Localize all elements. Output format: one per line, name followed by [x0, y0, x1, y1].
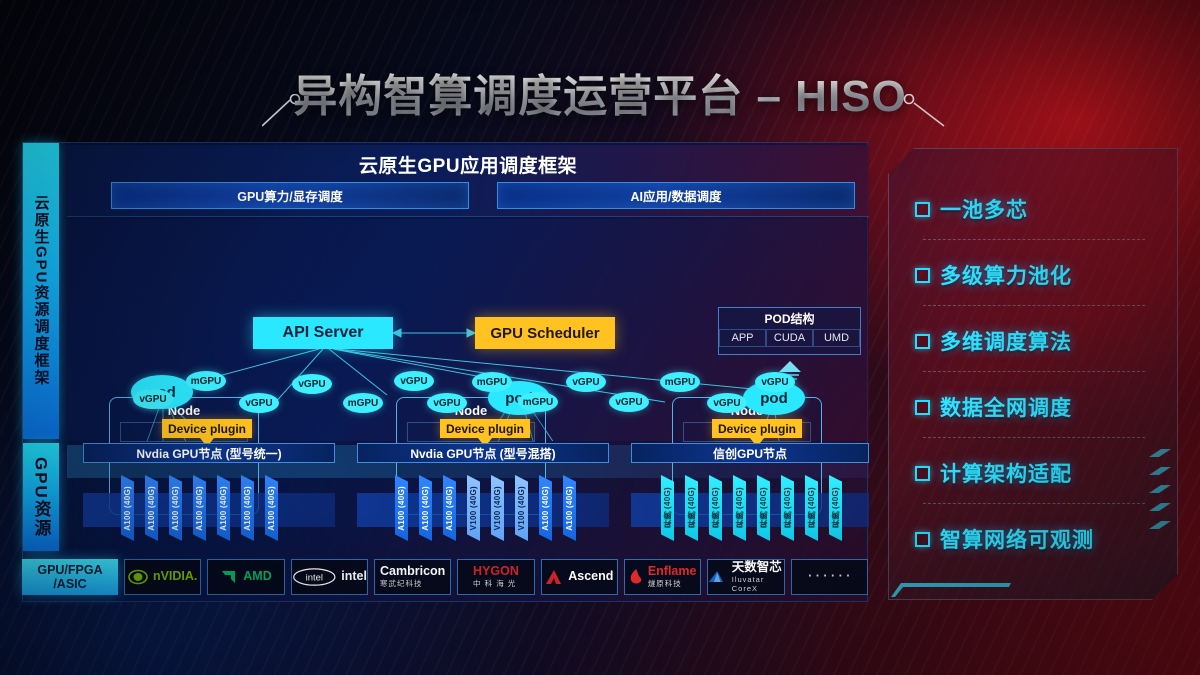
gpu-card-label: A100 (40G) [147, 486, 156, 531]
feature-item-2[interactable]: 多级算力池化 [915, 249, 1159, 301]
gpu-card[interactable]: A100 (40G) [563, 475, 576, 541]
gpu-card-rack: A100 (40G)A100 (40G)A100 (40G)V100 (40G)… [357, 471, 609, 543]
feature-divider [923, 371, 1145, 372]
gpu-card[interactable]: 昇腾 (40G) [733, 475, 746, 541]
gpu-card[interactable]: 昇腾 (40G) [757, 475, 770, 541]
pill-gpu-compute-scheduling[interactable]: GPU算力/显存调度 [111, 182, 469, 209]
gpu-card-label: 昇腾 (40G) [806, 487, 817, 528]
gpu-card-label: V100 (40G) [493, 486, 502, 530]
gpu-card[interactable]: A100 (40G) [395, 475, 408, 541]
vendor-name: Cambricon [380, 565, 445, 578]
cambricon-logo[interactable]: Cambricon寒武纪科技 [374, 559, 451, 595]
svg-text:intel: intel [305, 571, 322, 582]
vendor-label-line2: /ASIC [53, 577, 86, 591]
cloud-native-gpu-framework-panel: 云原生GPU资源调度框架 GPU资源 云原生GPU应用调度框架 GPU算力/显存… [22, 142, 868, 602]
feature-item-4[interactable]: 数据全网调度 [915, 381, 1159, 433]
pod-cell-umd: UMD [813, 329, 860, 347]
vendor-subtitle: 燧原科技 [648, 578, 697, 589]
gpu-card-label: A100 (40G) [267, 486, 276, 531]
sidebar-tab-framework: 云原生GPU资源调度框架 [23, 143, 59, 439]
feature-item-5[interactable]: 计算架构适配 [915, 447, 1159, 499]
gpu-node-group-2: Nvdia GPU节点 (型号混搭)A100 (40G)A100 (40G)A1… [357, 443, 609, 551]
iluvatar-logo[interactable]: 天数智芯Iluvatar CoreX [707, 559, 784, 595]
feature-item-1[interactable]: 一池多芯 [915, 183, 1159, 235]
feature-label: 计算架构适配 [940, 458, 1072, 488]
enflame-flame-icon [629, 569, 643, 585]
gpu-card[interactable]: V100 (40G) [491, 475, 504, 541]
vgpu-ellipse[interactable]: vGPU [239, 393, 279, 413]
feature-divider [923, 305, 1145, 306]
gpu-card[interactable]: 昇腾 (40G) [829, 475, 842, 541]
title-right-decoration [900, 94, 950, 128]
vgpu-ellipse[interactable]: vGPU [755, 372, 795, 392]
checkbox-icon [915, 334, 930, 349]
pod-structure-row: APP CUDA UMD [719, 329, 860, 347]
gpu-card-label: 昇腾 (40G) [782, 487, 793, 528]
vendor-text-wrap: 天数智芯Iluvatar CoreX [732, 561, 784, 592]
device-plugin-3[interactable]: Device plugin [712, 419, 802, 438]
gpu-card-label: A100 (40G) [421, 486, 430, 531]
checkbox-icon [915, 400, 930, 415]
panel-body: 云原生GPU应用调度框架 GPU算力/显存调度 AI应用/数据调度 [67, 143, 867, 601]
vendor-name: · · · · · · [808, 570, 850, 583]
vgpu-ellipse[interactable]: vGPU [427, 393, 467, 413]
vendor-text-wrap: nVIDIA. [153, 570, 197, 583]
vgpu-ellipse[interactable]: vGPU [566, 372, 606, 392]
rack-slab [83, 493, 335, 527]
feature-divider [923, 437, 1145, 438]
device-plugin-2[interactable]: Device plugin [440, 419, 530, 438]
ascend-logo[interactable]: Ascend [541, 559, 618, 595]
gpu-card-label: A100 (40G) [219, 486, 228, 531]
checkbox-icon [915, 532, 930, 547]
vendor-subtitle: 寒武纪科技 [380, 578, 445, 589]
gpu-card[interactable]: A100 (40G) [145, 475, 158, 541]
gpu-scheduler-box[interactable]: GPU Scheduler [475, 317, 615, 349]
gpu-card[interactable]: A100 (40G) [241, 475, 254, 541]
gpu-card[interactable]: A100 (40G) [169, 475, 182, 541]
vgpu-ellipse[interactable]: vGPU [609, 392, 649, 412]
vendor-name: 天数智芯 [732, 561, 784, 574]
gpu-card-label: A100 (40G) [397, 486, 406, 531]
gpu-card-label: A100 (40G) [171, 486, 180, 531]
gpu-card-label: V100 (40G) [517, 486, 526, 530]
title-area: 异构智算调度运营平台 – HISO [0, 60, 1200, 130]
mgpu-ellipse[interactable]: mGPU [518, 392, 558, 412]
mgpu-ellipse[interactable]: mGPU [343, 393, 383, 413]
amd-logo[interactable]: AMD [207, 559, 284, 595]
vendor-text-wrap: Cambricon寒武纪科技 [380, 565, 445, 589]
sidebar-tab-gpu-resource: GPU资源 [23, 443, 59, 551]
mgpu-ellipse[interactable]: mGPU [660, 372, 700, 392]
vgpu-ellipse[interactable]: vGPU [707, 393, 747, 413]
mgpu-ellipse[interactable]: mGPU [472, 372, 512, 392]
pill-ai-data-scheduling[interactable]: AI应用/数据调度 [497, 182, 855, 209]
vendor-subtitle: 中 科 海 光 [473, 578, 519, 589]
vendor-logo-row: GPU/FPGA /ASIC nVIDIA.AMDintelintelCambr… [22, 558, 868, 596]
gpu-card-label: V100 (40G) [469, 486, 478, 530]
gpu-card[interactable]: 昇腾 (40G) [781, 475, 794, 541]
gpu-card[interactable]: A100 (40G) [121, 475, 134, 541]
gpu-card[interactable]: 昇腾 (40G) [805, 475, 818, 541]
pod-cell-cuda: CUDA [766, 329, 813, 347]
vendor-text-wrap: Enflame燧原科技 [648, 565, 697, 589]
slide-root: 异构智算调度运营平台 – HISO 云原生GPU资源调度框架 GPU资源 云原生… [0, 0, 1200, 675]
checkbox-icon [915, 268, 930, 283]
feature-divider [923, 239, 1145, 240]
node-title: Node [110, 403, 258, 418]
feature-label: 多级算力池化 [940, 260, 1072, 290]
api-server-box[interactable]: API Server [253, 317, 393, 349]
vendor-name: Enflame [648, 565, 697, 578]
gpu-card[interactable]: A100 (40G) [265, 475, 278, 541]
device-plugin-1[interactable]: Device plugin [162, 419, 252, 438]
gpu-card[interactable]: 昇腾 (40G) [661, 475, 674, 541]
gpu-card[interactable]: A100 (40G) [193, 475, 206, 541]
vendor-text-wrap: · · · · · · [808, 570, 850, 583]
feature-item-6[interactable]: 智算网络可观测 [915, 513, 1159, 565]
gpu-node-group-header: 信创GPU节点 [631, 443, 869, 463]
feature-divider [923, 503, 1145, 504]
vendor-text-wrap: intel [341, 570, 367, 583]
pod-cell-app: APP [719, 329, 766, 347]
enflame-logo[interactable]: Enflame燧原科技 [624, 559, 701, 595]
gpu-card[interactable]: V100 (40G) [467, 475, 480, 541]
gpu-node-group-header: Nvdia GPU节点 (型号混搭) [357, 443, 609, 463]
vendor-name: HYGON [473, 565, 519, 578]
gpu-card-label: A100 (40G) [123, 486, 132, 531]
vgpu-ellipse[interactable]: vGPU [394, 371, 434, 391]
feature-label: 多维调度算法 [940, 326, 1072, 356]
gpu-card[interactable]: 昇腾 (40G) [709, 475, 722, 541]
vendor-category-label: GPU/FPGA /ASIC [22, 559, 118, 595]
hygon-logo[interactable]: HYGON中 科 海 光 [457, 559, 534, 595]
iluvatar-fan-icon [708, 569, 726, 585]
feature-label: 数据全网调度 [940, 392, 1072, 422]
amd-arrow-icon [220, 569, 238, 585]
ascend-mark-icon [545, 569, 563, 585]
vendor-text-wrap: AMD [243, 570, 271, 583]
feature-item-3[interactable]: 多维调度算法 [915, 315, 1159, 367]
gpu-card-label: A100 (40G) [541, 486, 550, 531]
gpu-node-group-header: Nvdia GPU节点 (型号统一) [83, 443, 335, 463]
gpu-card-rack: 昇腾 (40G)昇腾 (40G)昇腾 (40G)昇腾 (40G)昇腾 (40G)… [631, 471, 869, 543]
gpu-card-label: 昇腾 (40G) [710, 487, 721, 528]
gpu-card-label: 昇腾 (40G) [686, 487, 697, 528]
gpu-card[interactable]: V100 (40G) [515, 475, 528, 541]
vendor-text-wrap: HYGON中 科 海 光 [473, 565, 519, 589]
framework-header-title: 云原生GPU应用调度框架 [67, 151, 869, 178]
gpu-card[interactable]: A100 (40G) [443, 475, 456, 541]
gpu-node-group-1: Nvdia GPU节点 (型号统一)A100 (40G)A100 (40G)A1… [83, 443, 335, 551]
gpu-card-label: A100 (40G) [195, 486, 204, 531]
gpu-card-label: A100 (40G) [445, 486, 454, 531]
gpu-card[interactable]: A100 (40G) [217, 475, 230, 541]
checkbox-icon [915, 466, 930, 481]
gpu-card-label: 昇腾 (40G) [662, 487, 673, 528]
vendor-name: AMD [243, 570, 271, 583]
page-title: 异构智算调度运营平台 – HISO [0, 60, 1200, 124]
scheduling-zone: API Server GPU Scheduler POD结构 APP CUDA … [67, 219, 869, 441]
vgpu-ellipse[interactable]: vGPU [133, 389, 173, 409]
vendor-label-line1: GPU/FPGA [37, 563, 102, 577]
more-logo[interactable]: · · · · · · [791, 559, 868, 595]
vendor-subtitle: Iluvatar CoreX [732, 575, 784, 593]
vendor-name: nVIDIA. [153, 570, 197, 583]
mgpu-ellipse[interactable]: mGPU [186, 371, 226, 391]
checkbox-icon [915, 202, 930, 217]
nvidia-eye-icon [128, 569, 148, 585]
vgpu-ellipse[interactable]: vGPU [292, 374, 332, 394]
gpu-card-label: 昇腾 (40G) [734, 487, 745, 528]
framework-header-band: 云原生GPU应用调度框架 GPU算力/显存调度 AI应用/数据调度 [67, 145, 869, 217]
gpu-card[interactable]: A100 (40G) [419, 475, 432, 541]
vendor-name: Ascend [568, 570, 613, 583]
gpu-card-label: 昇腾 (40G) [830, 487, 841, 528]
pod-structure-box: POD结构 APP CUDA UMD [718, 307, 861, 355]
feature-label: 一池多芯 [940, 194, 1028, 224]
gpu-card[interactable]: A100 (40G) [539, 475, 552, 541]
vendor-text-wrap: Ascend [568, 570, 613, 583]
nvidia-logo[interactable]: nVIDIA. [124, 559, 201, 595]
gpu-card-label: A100 (40G) [243, 486, 252, 531]
gpu-resource-zone: Nvdia GPU节点 (型号统一)A100 (40G)A100 (40G)A1… [67, 443, 869, 551]
feature-label: 智算网络可观测 [940, 524, 1094, 554]
gpu-card-rack: A100 (40G)A100 (40G)A100 (40G)A100 (40G)… [83, 471, 335, 543]
intel-oval-icon: intel [292, 566, 337, 588]
vendor-name: intel [341, 570, 367, 583]
feature-highlights-panel: 一池多芯多级算力池化多维调度算法数据全网调度计算架构适配智算网络可观测 [888, 148, 1178, 600]
gpu-card[interactable]: 昇腾 (40G) [685, 475, 698, 541]
gpu-node-group-3: 信创GPU节点昇腾 (40G)昇腾 (40G)昇腾 (40G)昇腾 (40G)昇… [631, 443, 869, 551]
gpu-card-label: A100 (40G) [565, 486, 574, 531]
gpu-card-label: 昇腾 (40G) [758, 487, 769, 528]
pod-structure-title: POD结构 [719, 310, 860, 327]
panel-bottom-left-decoration [891, 579, 1011, 597]
intel-logo[interactable]: intelintel [291, 559, 368, 595]
